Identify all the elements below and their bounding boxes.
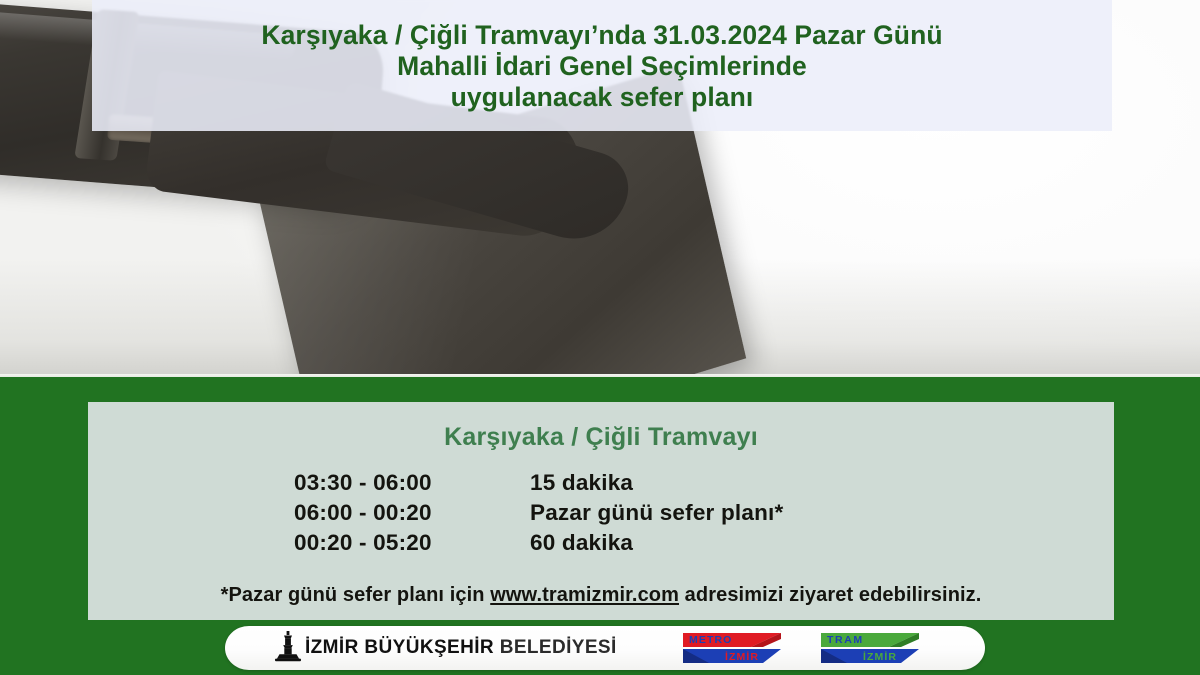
schedule-time: 00:20 - 05:20	[294, 528, 530, 558]
header-line-3: uygulanacak sefer planı	[451, 82, 754, 113]
footnote-prefix: *Pazar günü sefer planı için	[221, 584, 491, 606]
municipality-name: İZMİR BÜYÜKŞEHİR BELEDİYESİ	[305, 637, 617, 659]
schedule-time: 06:00 - 00:20	[294, 498, 530, 528]
table-row: 03:30 - 06:00 15 dakika	[294, 468, 1114, 498]
table-row: 06:00 - 00:20 Pazar günü sefer planı*	[294, 498, 1114, 528]
schedule-interval: 60 dakika	[530, 528, 633, 558]
municipality-name-strong: İZMİR BÜYÜKŞEHİR	[305, 637, 494, 658]
schedule-interval: 15 dakika	[530, 468, 633, 498]
header-line-1: Karşıyaka / Çiğli Tramvayı’nda 31.03.202…	[261, 20, 942, 51]
panel-title: Karşıyaka / Çiğli Tramvayı	[88, 422, 1114, 452]
footnote: *Pazar günü sefer planı için www.tramizm…	[88, 584, 1114, 607]
svg-text:METRO: METRO	[689, 634, 732, 646]
schedule-time: 03:30 - 06:00	[294, 468, 530, 498]
transit-brand-marks: METRO İZMİR TRAM İZMİR	[677, 629, 921, 667]
svg-text:İZMİR: İZMİR	[863, 650, 897, 663]
municipality-name-light: BELEDİYESİ	[494, 637, 617, 658]
tramizmir-link[interactable]: www.tramizmir.com	[490, 584, 679, 606]
poster-root: Karşıyaka / Çiğli Tramvayı’nda 31.03.202…	[0, 0, 1200, 675]
header-banner: Karşıyaka / Çiğli Tramvayı’nda 31.03.202…	[92, 0, 1112, 131]
izmir-municipality-logo: İZMİR BÜYÜKŞEHİR BELEDİYESİ	[273, 630, 617, 667]
table-row: 00:20 - 05:20 60 dakika	[294, 528, 1114, 558]
svg-text:TRAM: TRAM	[827, 634, 864, 646]
schedule-table: 03:30 - 06:00 15 dakika 06:00 - 00:20 Pa…	[88, 468, 1114, 558]
footer-logo-bar: İZMİR BÜYÜKŞEHİR BELEDİYESİ METRO İZMİR	[225, 626, 985, 670]
schedule-panel: Karşıyaka / Çiğli Tramvayı 03:30 - 06:00…	[88, 402, 1114, 620]
footnote-suffix: adresimizi ziyaret edebilirsiniz.	[679, 584, 981, 606]
schedule-interval: Pazar günü sefer planı*	[530, 498, 783, 528]
tram-izmir-logo[interactable]: TRAM İZMİR	[815, 629, 921, 667]
metro-izmir-logo[interactable]: METRO İZMİR	[677, 629, 783, 667]
header-line-2: Mahalli İdari Genel Seçimlerinde	[397, 51, 807, 82]
svg-text:İZMİR: İZMİR	[725, 650, 759, 663]
clock-tower-icon	[273, 630, 303, 667]
